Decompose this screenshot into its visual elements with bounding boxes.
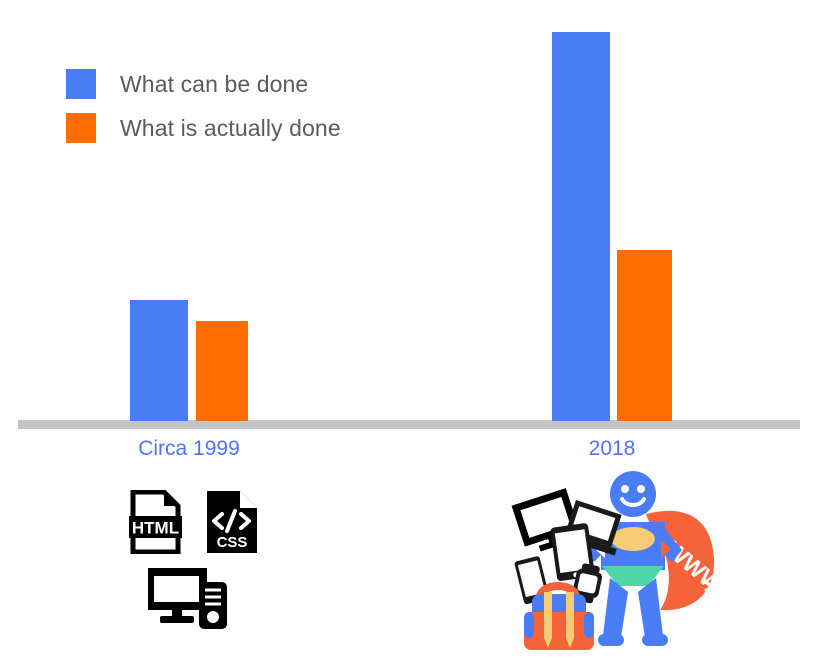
bar-1999-actually-done <box>196 321 248 421</box>
modern-web-superhero: WWW <box>498 466 768 656</box>
bar-2018-actually-done <box>617 250 672 421</box>
bar-chart: Circa 1999 2018 <box>0 0 816 470</box>
svg-text:HTML: HTML <box>132 519 179 538</box>
html-file-icon: HTML <box>129 490 182 554</box>
group-label-2018: 2018 <box>512 437 712 461</box>
svg-text:CSS: CSS <box>217 534 248 551</box>
chest-emblem <box>611 527 655 551</box>
superhero-head <box>610 471 656 517</box>
desktop-computer-icon <box>148 568 230 630</box>
circa-1999-tech-icons: HTML CSS <box>120 483 280 633</box>
css-file-icon: CSS <box>205 490 258 554</box>
chart-baseline <box>18 420 800 429</box>
group-label-1999: Circa 1999 <box>89 437 289 461</box>
bar-1999-can-be-done <box>130 300 188 421</box>
bar-2018-can-be-done <box>552 32 610 421</box>
